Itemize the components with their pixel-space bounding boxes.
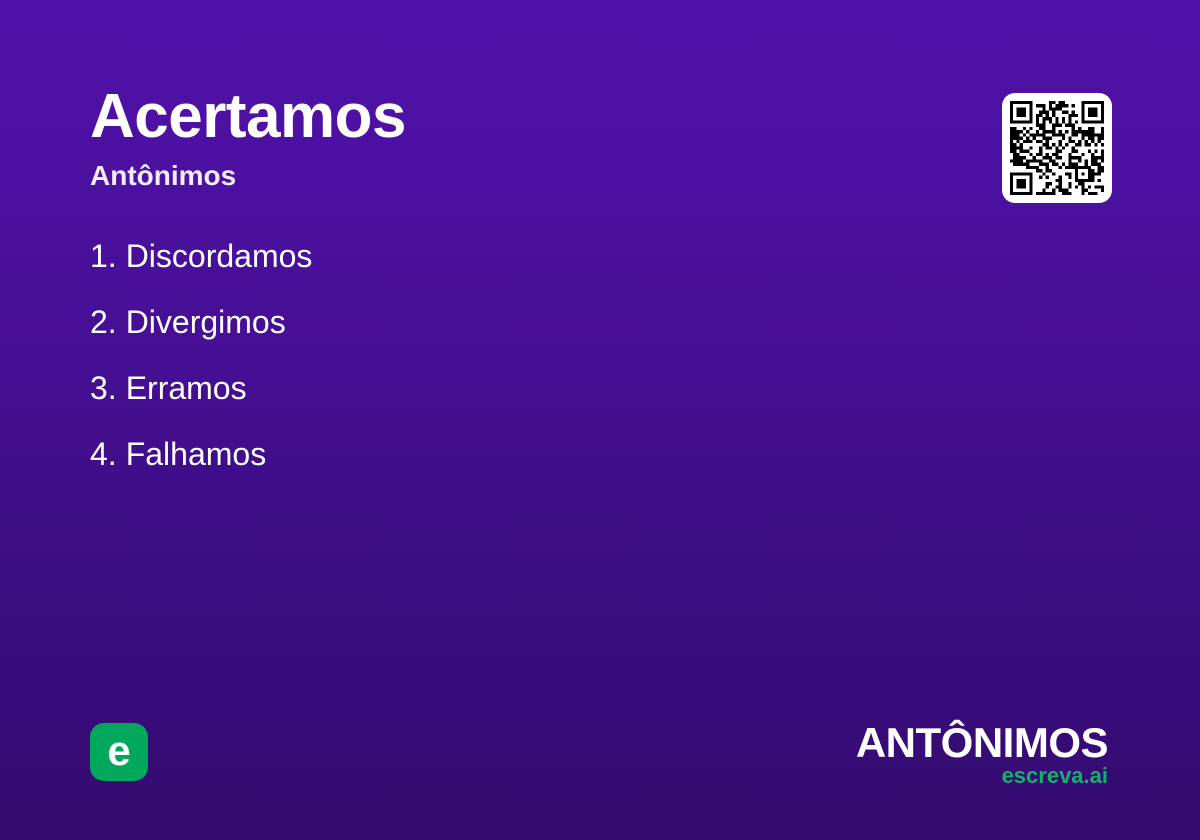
page-title: Acertamos xyxy=(90,84,910,149)
list-item-term: Divergimos xyxy=(126,300,286,344)
escreva-app-icon[interactable]: e xyxy=(90,723,148,781)
list-item: 1.Discordamos xyxy=(90,234,910,300)
list-item-index: 4. xyxy=(90,432,117,476)
brand-mark-letter: e xyxy=(90,723,148,781)
list-item: 4.Falhamos xyxy=(90,432,910,498)
footer-logo: ANTÔNIMOS escreva.ai xyxy=(768,722,1108,787)
header-block: Acertamos Antônimos xyxy=(90,84,910,193)
footer-logo-title: ANTÔNIMOS xyxy=(768,722,1108,764)
list-item-term: Erramos xyxy=(126,366,247,410)
word-card: Acertamos Antônimos 1.Discordamos 2.Dive… xyxy=(0,0,1200,840)
list-item: 2.Divergimos xyxy=(90,300,910,366)
list-item-index: 1. xyxy=(90,234,117,278)
list-item-term: Falhamos xyxy=(126,432,267,476)
footer-logo-subtitle: escreva.ai xyxy=(768,765,1108,787)
qr-code-icon xyxy=(1010,101,1104,195)
page-subtitle: Antônimos xyxy=(90,159,910,193)
list-item-term: Discordamos xyxy=(126,234,313,278)
list-item-index: 3. xyxy=(90,366,117,410)
qr-code-container[interactable] xyxy=(1002,93,1112,203)
list-item: 3.Erramos xyxy=(90,366,910,432)
list-item-index: 2. xyxy=(90,300,117,344)
antonym-list: 1.Discordamos 2.Divergimos 3.Erramos 4.F… xyxy=(90,234,910,498)
